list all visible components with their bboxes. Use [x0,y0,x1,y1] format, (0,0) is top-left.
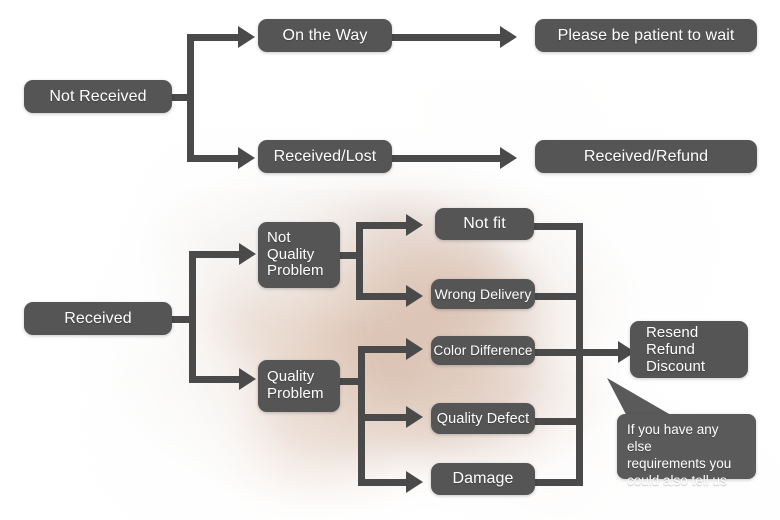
connector-to-color-difference [358,346,408,353]
connector-lost-to-refund [392,155,502,162]
node-please-wait-label: Please be patient to wait [535,27,757,45]
node-on-the-way-label: On the Way [258,27,392,45]
arrow-to-wrong-delivery [406,285,423,307]
arrow-to-on-the-way [238,26,255,48]
arrow-to-not-quality-problem [239,243,256,265]
node-not-quality-problem[interactable]: Not Quality Problem [258,222,340,288]
callout-line-1: If you have any else [627,422,719,454]
arrow-to-quality-defect [406,406,423,428]
node-received[interactable]: Received [24,302,172,335]
node-color-difference-label: Color Difference [431,343,535,358]
arrow-to-please-wait [500,26,517,48]
connector-to-not-fit [356,222,408,229]
arrow-to-damage [406,471,423,493]
flowchart-canvas: Not Received On the Way Please be patien… [0,0,780,520]
arrow-to-received-lost [238,147,255,169]
nqp-line-1: Not [267,229,291,246]
connector-to-damage [358,479,408,486]
nqp-line-3: Problem [267,262,324,279]
node-please-be-patient-to-wait[interactable]: Please be patient to wait [535,19,757,52]
arrow-to-received-refund [500,147,517,169]
node-quality-problem-label: Quality Problem [267,369,340,403]
callout-line-3: could also tell us [627,473,727,488]
connector-to-not-quality-problem [189,251,241,258]
arrow-to-color-difference [406,338,423,360]
node-received-refund-label: Received/Refund [535,148,757,166]
connector-received-bus [189,251,196,383]
connector-to-wrong-delivery [356,293,408,300]
node-not-quality-problem-label: Not Quality Problem [267,230,340,280]
node-quality-defect-label: Quality Defect [431,411,535,427]
connector-not-received-bus [187,34,194,162]
callout-line-2: requirements you [627,456,731,471]
connector-on-the-way-to-wait [392,34,502,41]
node-received-lost-label: Received/Lost [258,148,392,166]
node-received-label: Received [24,310,172,328]
connector-to-on-the-way [187,34,240,41]
connector-nqp-bus [356,222,363,300]
qp-line-1: Quality [267,368,314,385]
connector-merge-to-resolution [576,349,622,356]
node-damage[interactable]: Damage [431,463,535,495]
arrow-to-not-fit [406,214,423,236]
node-received-lost[interactable]: Received/Lost [258,140,392,173]
node-wrong-delivery[interactable]: Wrong Delivery [431,279,535,309]
node-quality-problem[interactable]: Quality Problem [258,360,340,412]
nqp-line-2: Quality [267,246,314,263]
node-color-difference[interactable]: Color Difference [431,336,535,365]
node-wrong-delivery-label: Wrong Delivery [431,286,535,302]
connector-to-quality-problem [189,376,241,383]
node-not-received-label: Not Received [24,88,172,106]
node-quality-defect[interactable]: Quality Defect [431,403,535,434]
connector-to-quality-defect [358,414,408,421]
node-not-received[interactable]: Not Received [24,80,172,113]
node-not-fit[interactable]: Not fit [435,208,534,240]
resolution-line-2: Refund [646,341,695,358]
node-damage-label: Damage [431,470,535,488]
qp-line-2: Problem [267,385,324,402]
node-on-the-way[interactable]: On the Way [258,19,392,52]
node-received-refund[interactable]: Received/Refund [535,140,757,173]
arrow-to-quality-problem [239,368,256,390]
node-not-fit-label: Not fit [435,215,534,233]
resolution-line-1: Resend [646,324,698,341]
connector-to-received-lost [187,155,240,162]
callout-bubble: If you have any else requirements you co… [617,414,756,479]
